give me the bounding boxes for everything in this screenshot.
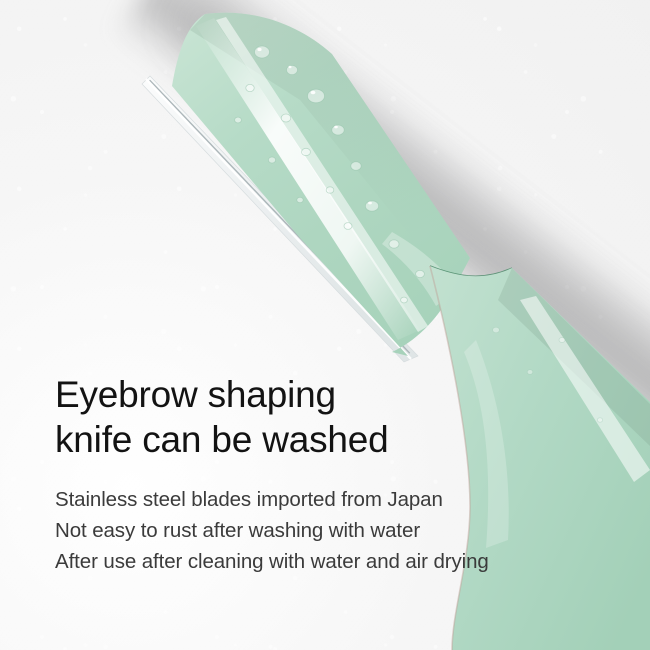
product-image-canvas: Eyebrow shaping knife can be washed Stai…	[0, 0, 650, 650]
feature-item: Stainless steel blades imported from Jap…	[55, 484, 615, 515]
feature-list: Stainless steel blades imported from Jap…	[55, 484, 615, 577]
headline: Eyebrow shaping knife can be washed	[55, 372, 615, 462]
feature-item: Not easy to rust after washing with wate…	[55, 515, 615, 546]
headline-line-2: knife can be washed	[55, 417, 615, 462]
headline-line-1: Eyebrow shaping	[55, 372, 615, 417]
marketing-text-block: Eyebrow shaping knife can be washed Stai…	[55, 372, 615, 577]
feature-item: After use after cleaning with water and …	[55, 546, 615, 577]
